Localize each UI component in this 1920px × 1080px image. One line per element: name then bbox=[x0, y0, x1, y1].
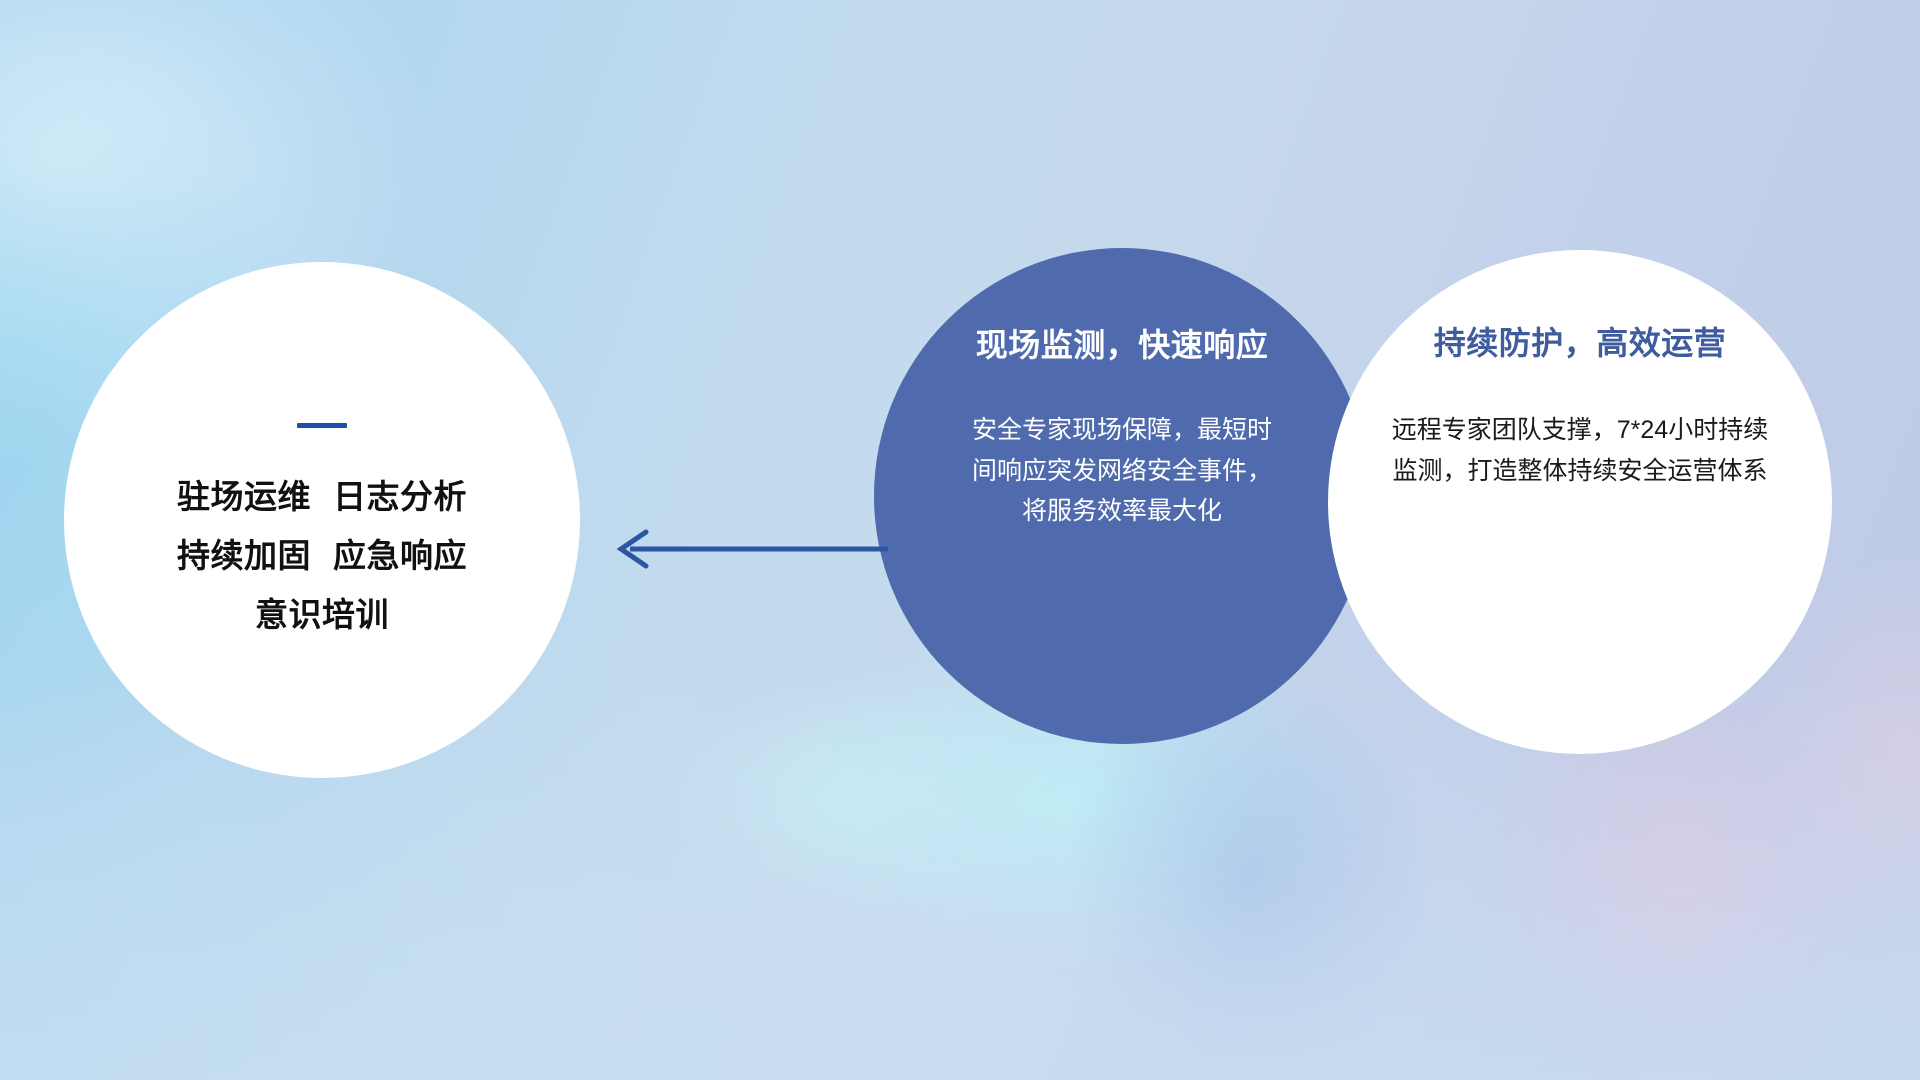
leftward-flow-arrow-icon bbox=[600, 520, 890, 578]
service-capability-row-2: 持续加固应急响应 bbox=[177, 539, 467, 572]
service-tag-rizhifenxi: 日志分析 bbox=[333, 478, 467, 515]
continuous-protection-title: 持续防护，高效运营 bbox=[1434, 324, 1727, 362]
onsite-monitoring-content: 现场监测，快速响应 安全专家现场保障，最短时间响应突发网络安全事件，将服务效率最… bbox=[874, 248, 1370, 744]
service-capability-list: 驻场运维日志分析 持续加固应急响应 意识培训 bbox=[177, 480, 467, 631]
accent-dash-icon bbox=[297, 423, 347, 428]
service-capability-content: 驻场运维日志分析 持续加固应急响应 意识培训 bbox=[64, 262, 580, 778]
onsite-monitoring-body: 安全专家现场保障，最短时间响应突发网络安全事件，将服务效率最大化 bbox=[972, 410, 1272, 532]
onsite-monitoring-title: 现场监测，快速响应 bbox=[976, 326, 1269, 364]
continuous-protection-content: 持续防护，高效运营 远程专家团队支撑，7*24小时持续监测，打造整体持续安全运营… bbox=[1328, 250, 1832, 754]
service-capability-row-1: 驻场运维日志分析 bbox=[177, 480, 467, 513]
slide-canvas: 现场监测，快速响应 安全专家现场保障，最短时间响应突发网络安全事件，将服务效率最… bbox=[0, 0, 1920, 1080]
service-tag-yingjixiangying: 应急响应 bbox=[333, 537, 467, 574]
service-tag-yishipeixun: 意识培训 bbox=[255, 598, 389, 631]
service-tag-zhuchangyunwei: 驻场运维 bbox=[177, 478, 311, 515]
service-tag-chixujiagu: 持续加固 bbox=[177, 537, 311, 574]
continuous-protection-body: 远程专家团队支撑，7*24小时持续监测，打造整体持续安全运营体系 bbox=[1380, 410, 1780, 491]
